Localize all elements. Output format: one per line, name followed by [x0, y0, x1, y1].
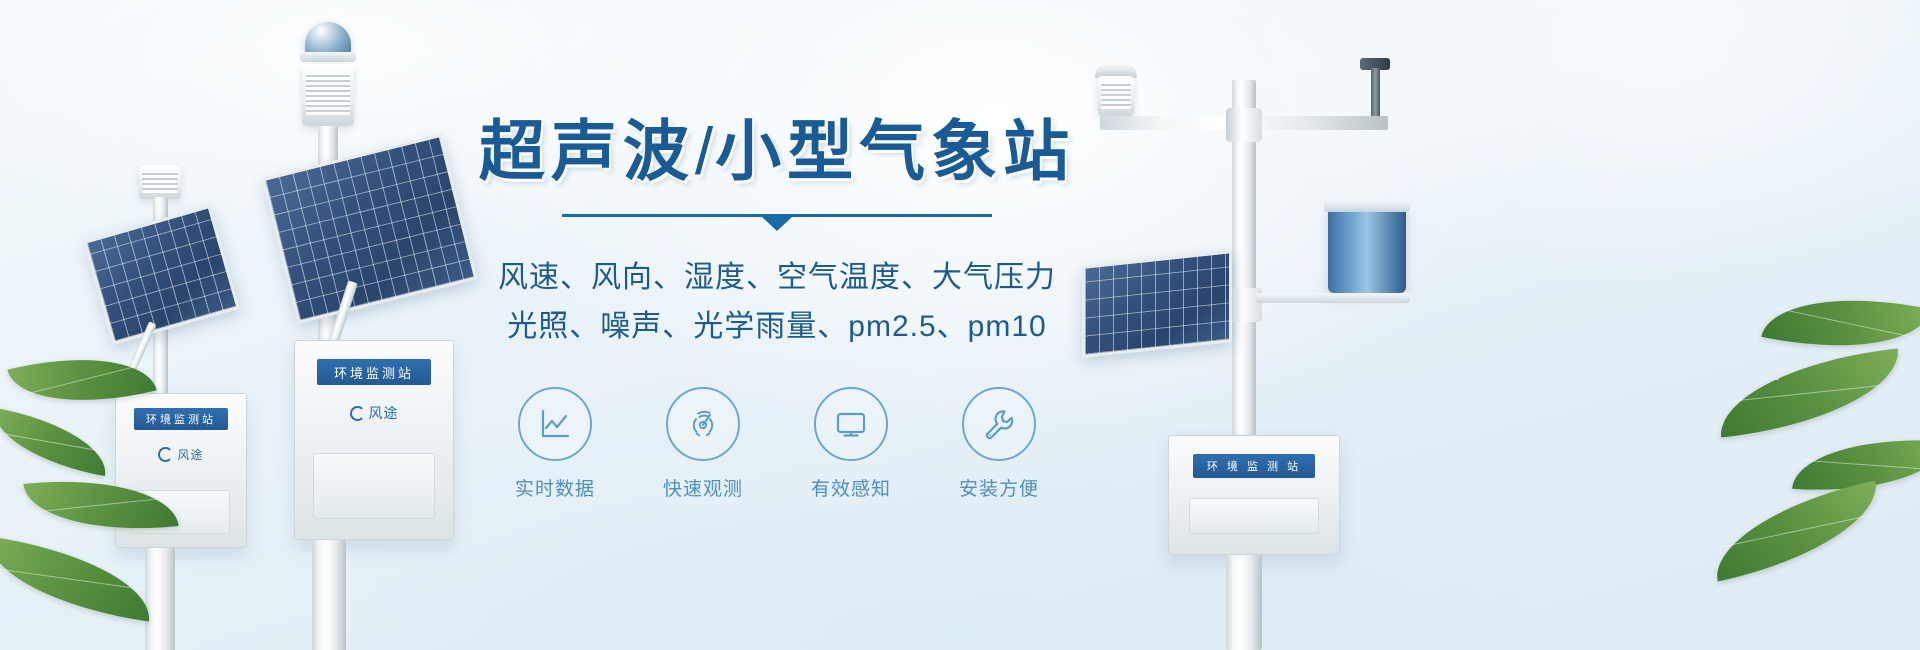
subtitle-block: 风速、风向、湿度、空气温度、大气压力 光照、噪声、光学雨量、pm2.5、pm10	[498, 254, 1056, 351]
page-title: 超声波/小型气象站	[479, 118, 1075, 184]
base-right	[1226, 555, 1262, 650]
feature-icon-ring-1	[518, 387, 592, 461]
left-station-brand: 风途	[116, 446, 246, 463]
feature-icon-ring-2	[666, 387, 740, 461]
radiation-shield-center	[302, 64, 354, 126]
left-station-brand-text: 风途	[177, 446, 203, 463]
rain-bucket-shelf	[1256, 293, 1410, 303]
subtitle-line-2: 光照、噪声、光学雨量、pm2.5、pm10	[498, 303, 1056, 352]
feature-item-fast-observation[interactable]: 快速观测	[648, 387, 758, 501]
rain-bucket-right	[1328, 205, 1406, 293]
center-station-brand-text: 风途	[369, 403, 399, 423]
center-station-brand: 风途	[295, 403, 453, 423]
center-cabinet-door	[313, 453, 435, 519]
page-title-part-b: 小型气象站	[715, 114, 1075, 188]
title-divider	[562, 214, 992, 232]
feature-label-4: 安装方便	[959, 474, 1039, 501]
rain-gauge-dome	[305, 22, 351, 54]
banner-text-block: 超声波/小型气象站 风速、风向、湿度、空气温度、大气压力 光照、噪声、光学雨量、…	[432, 0, 1122, 650]
base-center	[312, 540, 346, 650]
feature-item-effective-sensing[interactable]: 有效感知	[796, 387, 906, 501]
mast-collar-top	[1226, 108, 1262, 142]
brand-logo-icon-left	[158, 447, 173, 462]
line-chart-icon	[535, 404, 575, 444]
feature-label-1: 实时数据	[515, 474, 595, 501]
feature-label-2: 快速观测	[663, 474, 743, 501]
page-title-part-a: 超声波	[479, 114, 695, 188]
right-station-cabinet: 环 境 监 测 站	[1168, 435, 1340, 555]
rain-bucket-rim	[1324, 200, 1410, 212]
feature-item-realtime-data[interactable]: 实时数据	[500, 387, 610, 501]
center-station-cabinet: 环境监测站 风途	[294, 340, 454, 540]
page-title-slash: /	[695, 114, 715, 188]
feature-list: 实时数据 快速观测	[500, 387, 1054, 501]
base-left	[145, 548, 175, 650]
right-station-label-strip: 环 境 监 测 站	[1193, 454, 1315, 478]
center-station-label-strip: 环境监测站	[317, 359, 431, 385]
divider-notch-icon	[762, 217, 792, 231]
monitor-screen-icon	[831, 404, 871, 444]
feature-icon-ring-3	[814, 387, 888, 461]
ultrasonic-sensor-head-left	[139, 165, 181, 199]
leaf-right-2	[1714, 349, 1905, 438]
feature-label-3: 有效感知	[811, 474, 891, 501]
solar-panel-left	[83, 205, 240, 345]
feature-icon-ring-4	[962, 387, 1036, 461]
left-station-label-strip: 环境监测站	[134, 408, 228, 430]
wrench-tool-icon	[979, 404, 1019, 444]
leaf-right-4	[1704, 481, 1889, 582]
weather-station-banner: 环境监测站 风途 环境监测站 风途	[0, 0, 1920, 650]
gauge-collar	[300, 52, 356, 62]
radar-sensing-icon	[683, 404, 723, 444]
wind-vane-stem	[1371, 68, 1380, 122]
feature-item-easy-installation[interactable]: 安装方便	[944, 387, 1054, 501]
right-cabinet-door	[1189, 498, 1319, 534]
subtitle-line-1: 风速、风向、湿度、空气温度、大气压力	[498, 254, 1056, 303]
brand-logo-icon-center	[350, 406, 365, 421]
